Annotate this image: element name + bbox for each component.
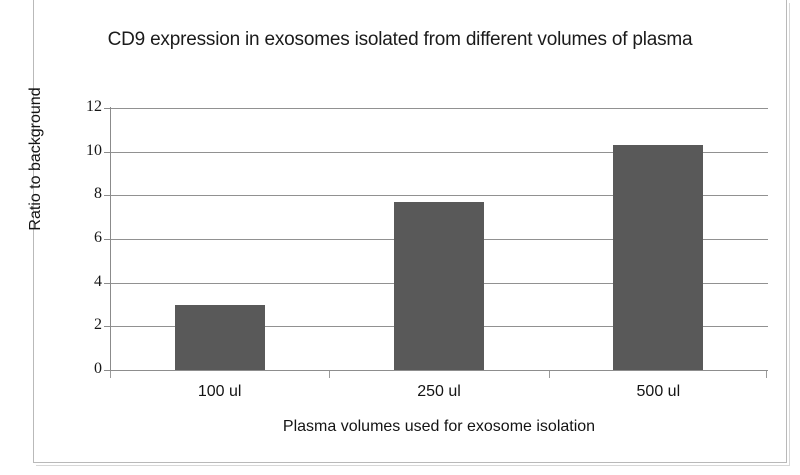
plot-area	[110, 108, 768, 370]
bar-100-ul	[175, 305, 265, 371]
gridline	[110, 108, 768, 109]
x-axis-tick	[549, 371, 550, 378]
y-axis-tick	[104, 152, 111, 153]
x-axis-endcap-right	[766, 371, 767, 378]
y-axis-tick-label: 2	[64, 316, 102, 334]
y-axis-tick-label: 6	[64, 229, 102, 247]
y-axis-tick	[104, 239, 111, 240]
bar-250-ul	[394, 202, 484, 370]
chart-title: CD9 expression in exosomes isolated from…	[90, 26, 710, 54]
x-axis-endcap-left	[110, 371, 111, 378]
y-axis-tick	[104, 108, 111, 109]
y-axis-tick	[104, 195, 111, 196]
x-axis-title: Plasma volumes used for exosome isolatio…	[110, 418, 768, 436]
x-axis-tick-label: 100 ul	[198, 383, 242, 401]
y-axis-line	[110, 107, 111, 372]
chart-figure: CD9 expression in exosomes isolated from…	[0, 0, 800, 475]
x-axis-tick-label: 250 ul	[417, 383, 461, 401]
x-axis-tick	[329, 371, 330, 378]
y-axis-title: Ratio to background	[27, 59, 49, 259]
y-axis-tick	[104, 283, 111, 284]
x-axis-tick-label: 500 ul	[637, 383, 681, 401]
y-axis-tick	[104, 326, 111, 327]
y-axis-tick-label: 12	[64, 98, 102, 116]
x-axis-line	[110, 370, 768, 371]
y-axis-tick-label: 8	[64, 185, 102, 203]
y-axis-tick-label: 0	[64, 360, 102, 378]
x-axis-tick-labels: 100 ul250 ul500 ul	[110, 383, 768, 407]
y-axis-tick-labels: 024681012	[62, 108, 102, 370]
y-axis-tick-label: 10	[64, 142, 102, 160]
y-axis-tick-label: 4	[64, 273, 102, 291]
bar-500-ul	[613, 145, 703, 370]
